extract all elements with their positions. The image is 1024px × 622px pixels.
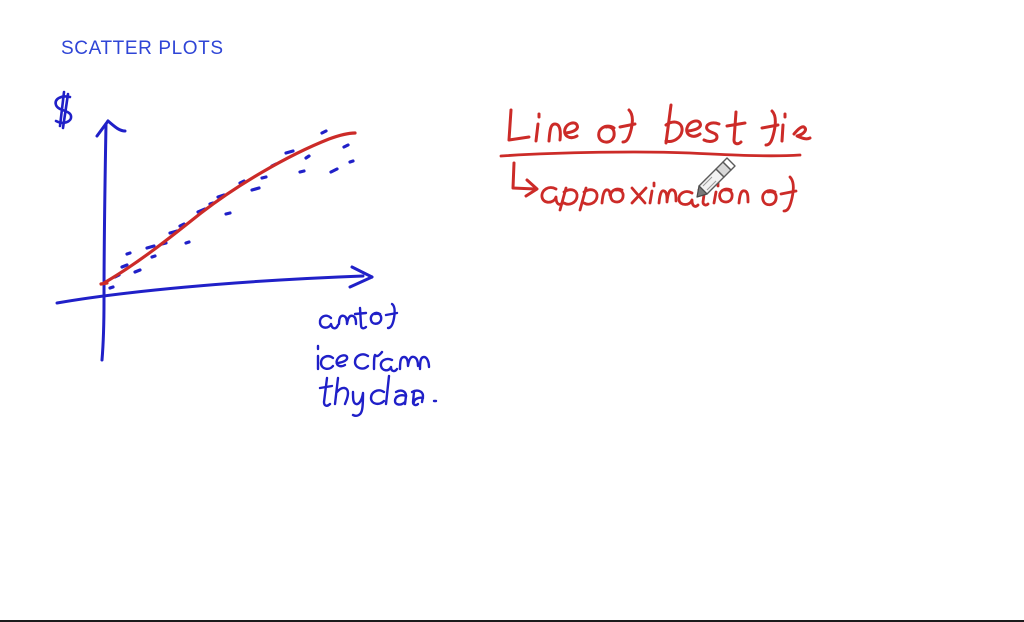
pen-cursor[interactable] <box>0 0 1024 622</box>
pen-cursor-icon[interactable] <box>697 158 735 197</box>
whiteboard-canvas[interactable]: SCATTER PLOTS <box>0 0 1024 622</box>
